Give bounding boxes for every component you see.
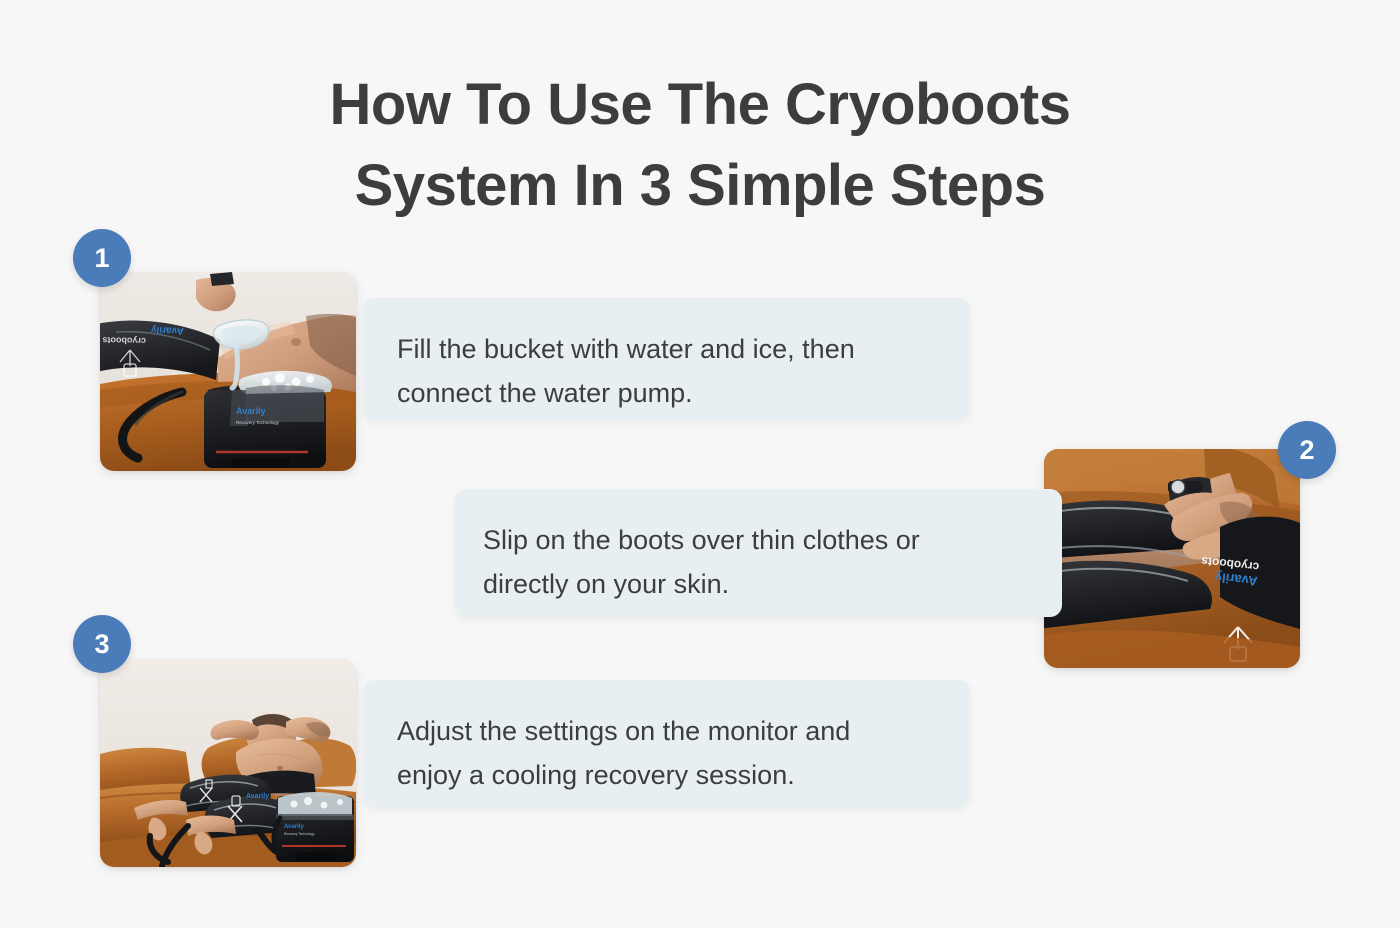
svg-text:Recovery Technology: Recovery Technology: [236, 420, 280, 425]
step-2-badge: 2: [1278, 421, 1336, 479]
page-title-line-1: How To Use The Cryoboots: [0, 64, 1400, 145]
svg-text:cryoboots: cryoboots: [102, 335, 146, 346]
step-3-photo: Avarily Avarily Recovery Technology: [100, 660, 356, 867]
step-2-caption-line-2: directly on your skin.: [483, 563, 1028, 607]
step-1-caption-line-1: Fill the bucket with water and ice, then: [397, 328, 936, 372]
step-3-badge: 3: [73, 615, 131, 673]
page-title-line-2: System In 3 Simple Steps: [0, 145, 1400, 226]
svg-text:Avarily: Avarily: [284, 824, 304, 830]
step-1-photo: cryoboots Avarily Avarily R: [100, 272, 356, 471]
step-2-caption: Slip on the boots over thin clothes or d…: [455, 489, 1062, 617]
svg-text:Avarily: Avarily: [150, 324, 184, 336]
page-title: How To Use The Cryoboots System In 3 Sim…: [0, 64, 1400, 226]
step-1-caption: Fill the bucket with water and ice, then…: [363, 298, 970, 420]
step-1-badge: 1: [73, 229, 131, 287]
step-3-caption: Adjust the settings on the monitor and e…: [363, 680, 970, 807]
svg-text:Avarily: Avarily: [236, 406, 266, 416]
step-1-caption-line-2: connect the water pump.: [397, 372, 936, 416]
svg-text:Recovery Technology: Recovery Technology: [284, 832, 315, 836]
svg-text:Avarily: Avarily: [246, 793, 269, 800]
infographic-canvas: How To Use The Cryoboots System In 3 Sim…: [0, 0, 1400, 928]
step-2-photo: Avarily cryoboots: [1044, 449, 1300, 668]
step-2-caption-line-1: Slip on the boots over thin clothes or: [483, 519, 1028, 563]
step-3-caption-line-1: Adjust the settings on the monitor and: [397, 710, 936, 754]
step-3-caption-line-2: enjoy a cooling recovery session.: [397, 754, 936, 798]
